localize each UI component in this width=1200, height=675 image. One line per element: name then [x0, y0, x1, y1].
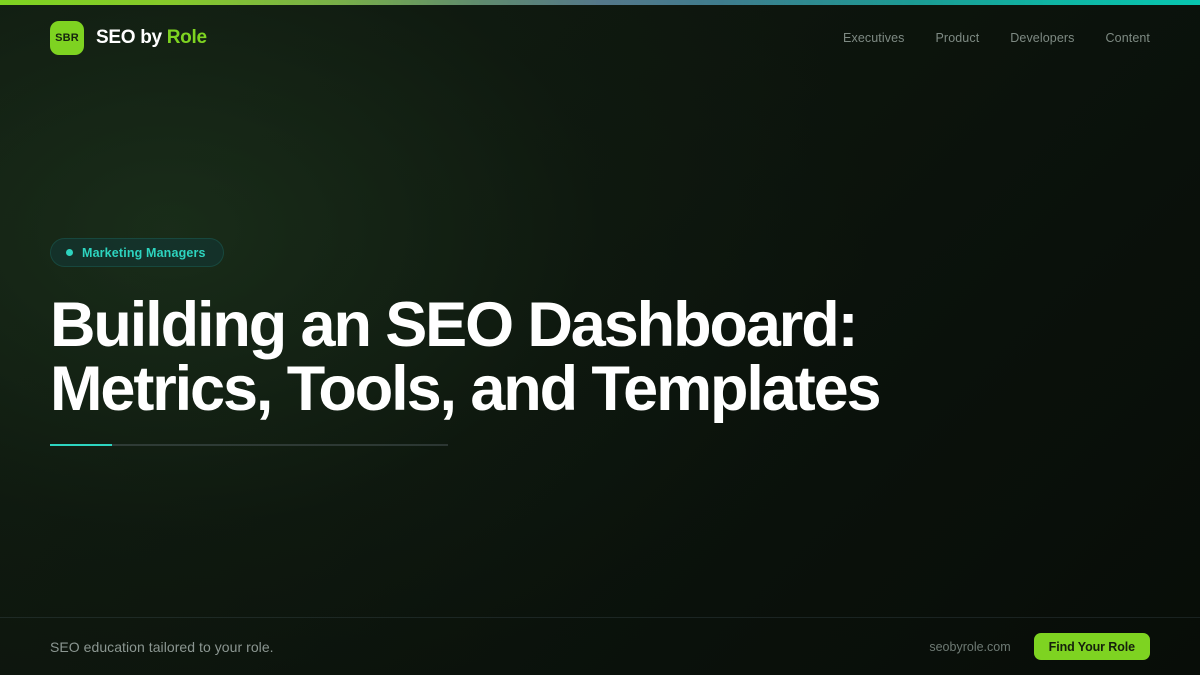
- title-divider-accent: [50, 444, 112, 446]
- primary-nav: Executives Product Developers Content: [843, 31, 1150, 45]
- badge-dot-icon: [66, 249, 73, 256]
- page-title-line-2: Metrics, Tools, and Templates: [50, 357, 1050, 421]
- brand-name-primary: SEO by: [96, 27, 162, 48]
- site-header: SBR SEO by Role Executives Product Devel…: [0, 5, 1200, 71]
- nav-item-developers[interactable]: Developers: [1010, 31, 1074, 45]
- brand-name: SEO by Role: [96, 27, 207, 49]
- footer-actions: seobyrole.com Find Your Role: [929, 633, 1150, 660]
- footer-url[interactable]: seobyrole.com: [929, 640, 1010, 654]
- audience-badge-label: Marketing Managers: [82, 246, 206, 260]
- brand-logo[interactable]: SBR SEO by Role: [50, 21, 207, 55]
- site-footer: SEO education tailored to your role. seo…: [0, 618, 1200, 675]
- brand-name-accent: Role: [167, 27, 207, 48]
- page-title-line-1: Building an SEO Dashboard:: [50, 293, 1050, 357]
- nav-item-executives[interactable]: Executives: [843, 31, 904, 45]
- nav-item-product[interactable]: Product: [936, 31, 980, 45]
- audience-badge: Marketing Managers: [50, 238, 224, 267]
- slide-root: SBR SEO by Role Executives Product Devel…: [0, 0, 1200, 675]
- page-title: Building an SEO Dashboard: Metrics, Tool…: [50, 293, 1050, 421]
- find-your-role-button[interactable]: Find Your Role: [1034, 633, 1150, 660]
- footer-tagline: SEO education tailored to your role.: [50, 639, 274, 655]
- nav-item-content[interactable]: Content: [1106, 31, 1150, 45]
- hero-section: Marketing Managers Building an SEO Dashb…: [50, 238, 1140, 446]
- logo-mark-icon: SBR: [50, 21, 84, 55]
- title-divider: [50, 444, 448, 446]
